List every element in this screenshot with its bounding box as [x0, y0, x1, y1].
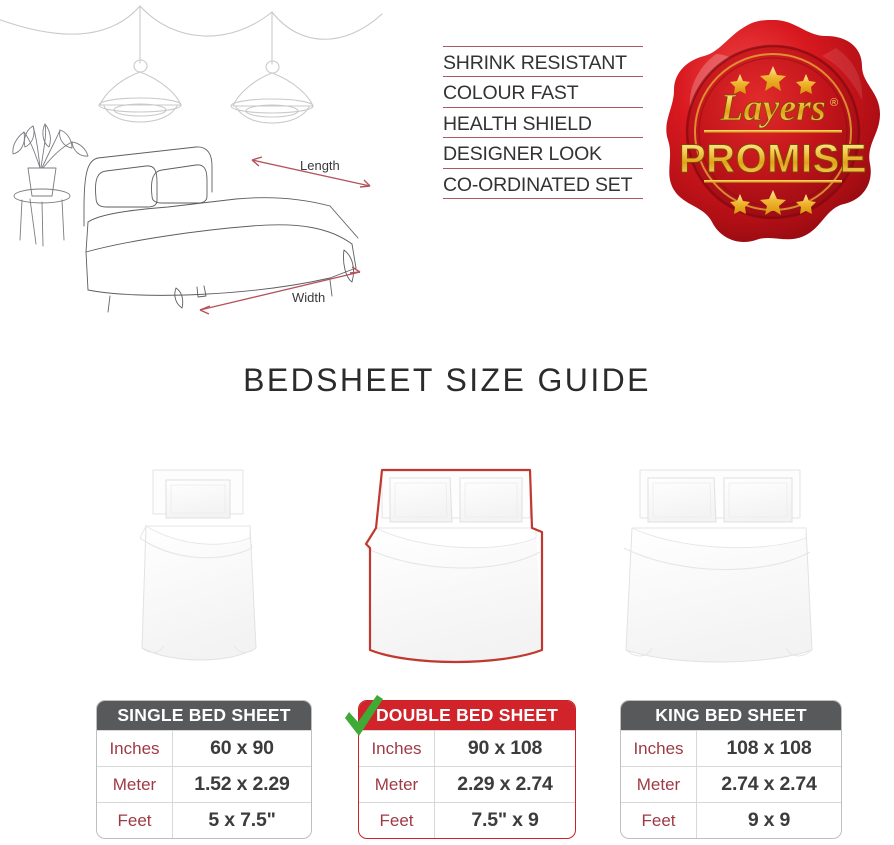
feature-label: COLOUR FAST: [443, 83, 643, 103]
row-label: Meter: [621, 767, 697, 802]
row-value: 2.29 x 2.74: [435, 767, 575, 802]
feature-item: COLOUR FAST: [443, 76, 643, 106]
table-row: Inches 108 x 108: [621, 730, 841, 766]
width-dimension-arrow: [200, 267, 360, 314]
feature-item: CO-ORDINATED SET: [443, 168, 643, 199]
row-value: 1.52 x 2.29: [173, 767, 311, 802]
row-value: 2.74 x 2.74: [697, 767, 841, 802]
table-row: Meter 2.74 x 2.74: [621, 766, 841, 802]
table-row: Feet 7.5" x 9: [359, 802, 575, 838]
size-tables: SINGLE BED SHEET Inches 60 x 90 Meter 1.…: [0, 700, 894, 840]
row-label: Inches: [97, 731, 173, 766]
size-table-double[interactable]: DOUBLE BED SHEET Inches 90 x 108 Meter 2…: [358, 700, 576, 839]
side-table-icon: [14, 189, 70, 246]
length-label: Length: [300, 158, 340, 173]
check-mark-icon: [341, 694, 385, 740]
row-label: Meter: [359, 767, 435, 802]
table-row: Inches 90 x 108: [359, 730, 575, 766]
row-value: 108 x 108: [697, 731, 841, 766]
feature-label: SHRINK RESISTANT: [443, 53, 643, 73]
table-row: Feet 5 x 7.5": [97, 802, 311, 838]
table-header-single: SINGLE BED SHEET: [97, 701, 311, 730]
size-table-single[interactable]: SINGLE BED SHEET Inches 60 x 90 Meter 1.…: [96, 700, 312, 839]
row-label: Inches: [621, 731, 697, 766]
king-bedsheet-image: [624, 470, 812, 662]
double-bedsheet-image: [366, 470, 542, 662]
single-bedsheet-image: [140, 470, 256, 660]
seal-divider: [704, 130, 842, 133]
pendant-lamp-icon: [99, 7, 181, 122]
row-value: 5 x 7.5": [173, 803, 311, 838]
table-row: Meter 2.29 x 2.74: [359, 766, 575, 802]
feature-list: SHRINK RESISTANT COLOUR FAST HEALTH SHIE…: [443, 46, 643, 199]
table-row: Meter 1.52 x 2.29: [97, 766, 311, 802]
feature-label: DESIGNER LOOK: [443, 144, 643, 164]
row-value: 9 x 9: [697, 803, 841, 838]
bedsheet-product-row: [0, 452, 894, 687]
feature-label: HEALTH SHIELD: [443, 114, 643, 134]
feature-label: CO-ORDINATED SET: [443, 175, 643, 195]
seal-brand-text: Layers: [719, 87, 826, 129]
row-label: Feet: [359, 803, 435, 838]
table-header-king: KING BED SHEET: [621, 701, 841, 730]
feature-item: HEALTH SHIELD: [443, 107, 643, 137]
row-value: 60 x 90: [173, 731, 311, 766]
row-value: 90 x 108: [435, 731, 575, 766]
page-title: BEDSHEET SIZE GUIDE: [0, 362, 894, 399]
size-table-king[interactable]: KING BED SHEET Inches 108 x 108 Meter 2.…: [620, 700, 842, 839]
bedroom-illustration: Length Width: [0, 0, 430, 330]
row-value: 7.5" x 9: [435, 803, 575, 838]
seal-promise-text: PROMISE: [679, 137, 867, 181]
table-row: Feet 9 x 9: [621, 802, 841, 838]
table-header-double: DOUBLE BED SHEET: [359, 701, 575, 730]
width-label: Width: [292, 290, 325, 305]
row-label: Feet: [97, 803, 173, 838]
row-label: Feet: [621, 803, 697, 838]
feature-item: DESIGNER LOOK: [443, 137, 643, 167]
table-row: Inches 60 x 90: [97, 730, 311, 766]
feature-item: SHRINK RESISTANT: [443, 46, 643, 76]
seal-registered-mark: ®: [830, 97, 838, 109]
promise-seal-badge: Layers ® PROMISE: [660, 14, 888, 264]
potted-plant-icon: [13, 124, 88, 196]
row-label: Meter: [97, 767, 173, 802]
